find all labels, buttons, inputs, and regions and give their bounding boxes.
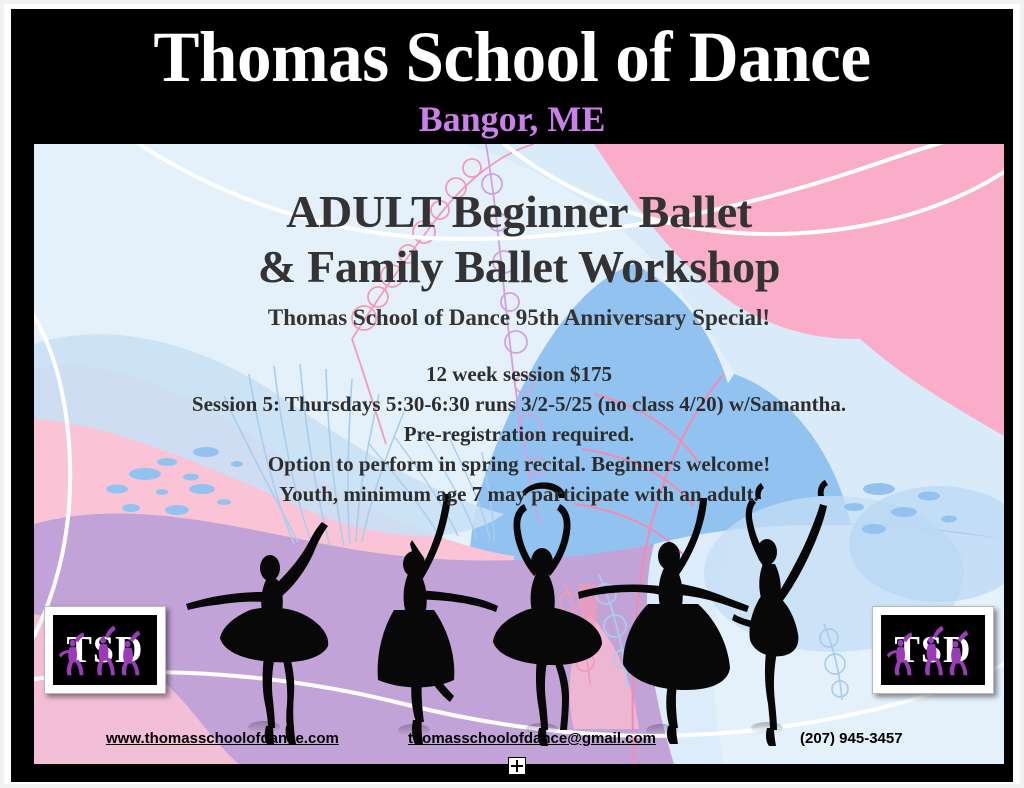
body-line-registration: Pre-registration required. xyxy=(34,419,1004,449)
body-line-price: 12 week session $175 xyxy=(34,359,1004,389)
tsd-logo-right-inner: TSD xyxy=(881,615,985,685)
body-line-recital: Option to perform in spring recital. Beg… xyxy=(34,449,1004,479)
website-link[interactable]: www.thomasschoolofdance.com xyxy=(106,729,339,749)
dance-flyer-poster: Thomas School of Dance Bangor, ME xyxy=(11,9,1013,782)
page-background: Thomas School of Dance Bangor, ME xyxy=(0,0,1024,788)
school-location-subtitle: Bangor, ME xyxy=(11,99,1013,139)
flyer-headline-line-1: ADULT Beginner Ballet xyxy=(34,184,1004,240)
body-line-youth: Youth, minimum age 7 may participate wit… xyxy=(34,479,1004,509)
flyer-artwork-area: ADULT Beginner Ballet & Family Ballet Wo… xyxy=(34,144,1004,764)
move-crosshair-icon xyxy=(508,757,526,775)
flyer-headline-line-2: & Family Ballet Workshop xyxy=(34,239,1004,295)
flyer-text-layer: ADULT Beginner Ballet & Family Ballet Wo… xyxy=(34,144,1004,764)
logo-dancer-icons-left xyxy=(53,615,157,685)
school-name-title: Thomas School of Dance xyxy=(31,19,993,95)
tsd-logo-right: TSD xyxy=(872,606,994,694)
poster-header: Thomas School of Dance Bangor, ME xyxy=(11,9,1013,144)
email-link[interactable]: thomasschoolofdance@gmail.com xyxy=(408,729,656,749)
logo-dancer-icons-right xyxy=(881,615,985,685)
flyer-subheadline: Thomas School of Dance 95th Anniversary … xyxy=(34,304,1004,332)
phone-number: (207) 945-3457 xyxy=(800,729,903,749)
tsd-logo-left: TSD xyxy=(44,606,166,694)
body-line-schedule: Session 5: Thursdays 5:30-6:30 runs 3/2-… xyxy=(34,389,1004,419)
page-inner: Thomas School of Dance Bangor, ME xyxy=(4,4,1020,784)
flyer-body-text: 12 week session $175 Session 5: Thursday… xyxy=(34,359,1004,509)
tsd-logo-left-inner: TSD xyxy=(53,615,157,685)
